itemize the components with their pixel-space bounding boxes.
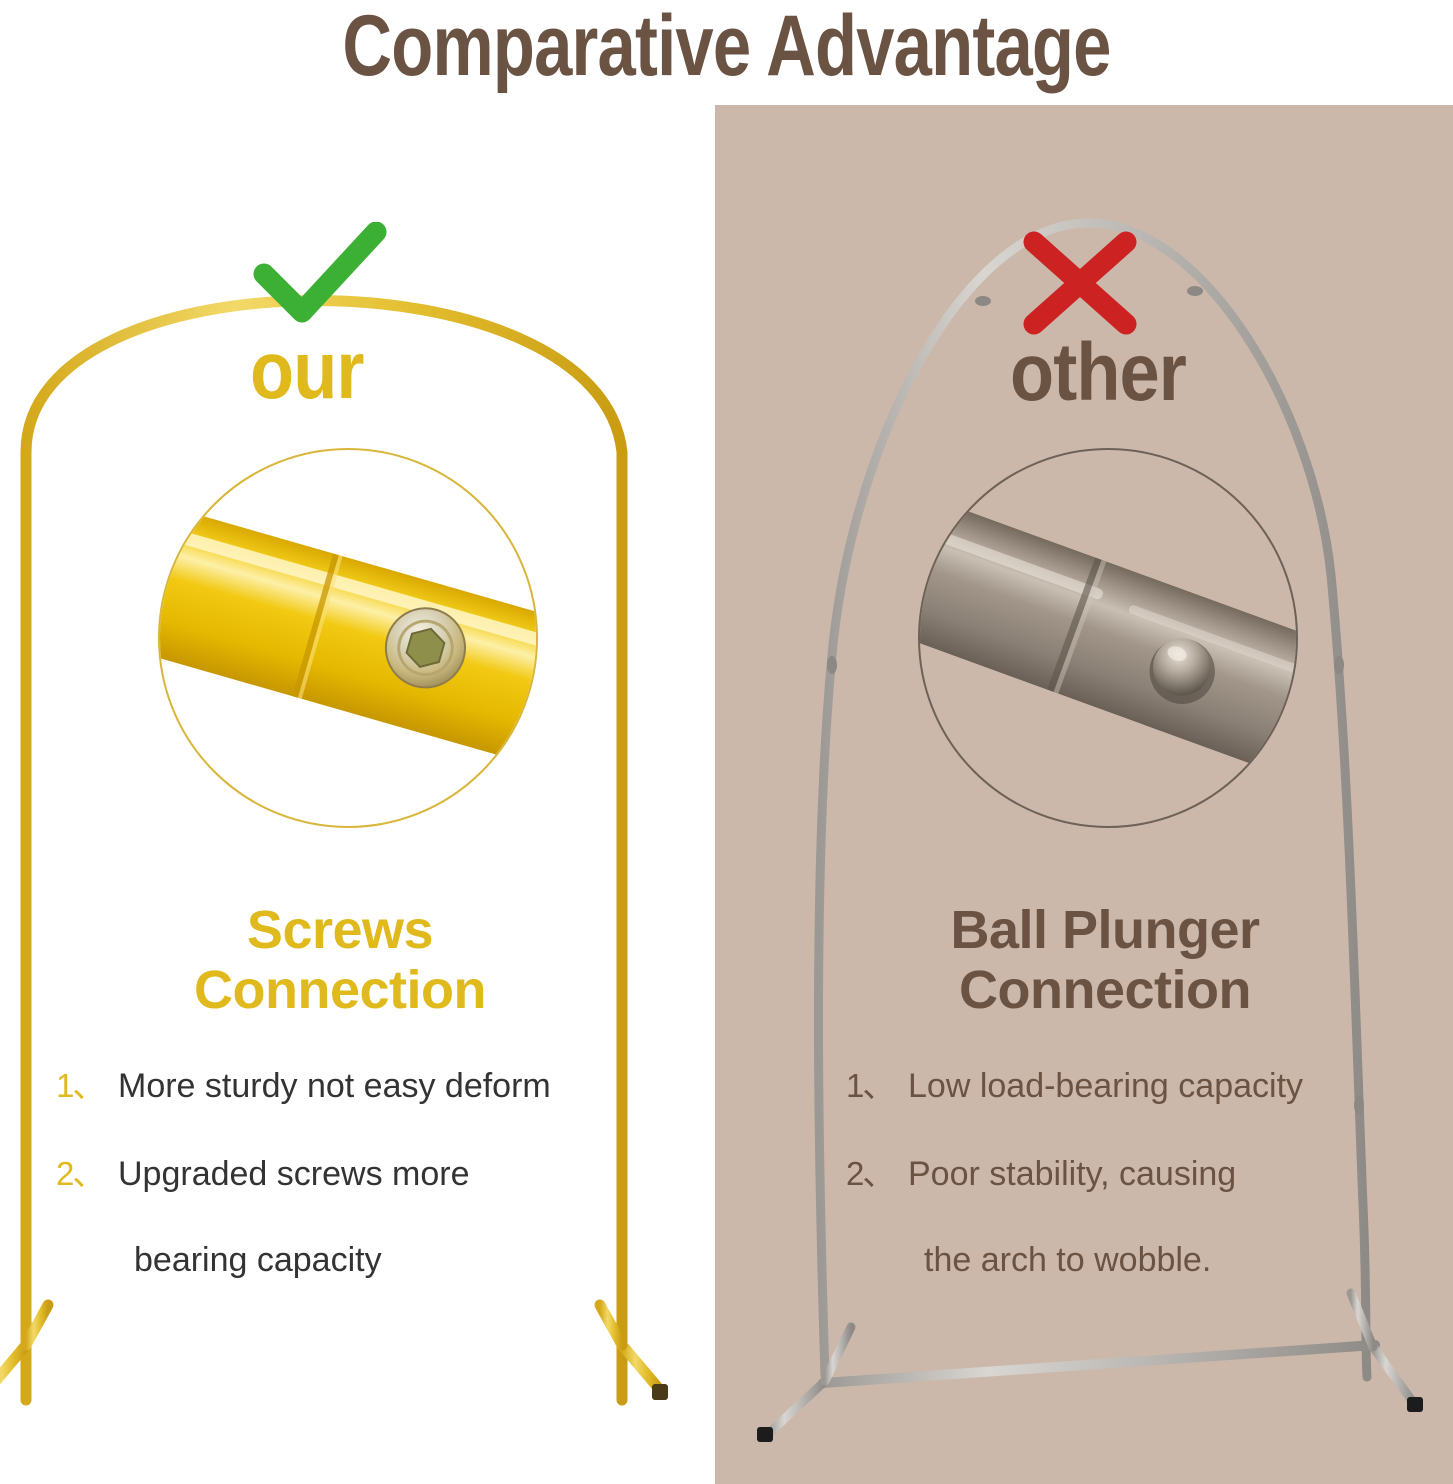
- heading-screws-connection: Screws Connection: [40, 900, 640, 1020]
- list-item-text-line-1: Upgraded screws more: [118, 1155, 469, 1193]
- comparison-infographic: Comparative Advantage: [0, 0, 1453, 1484]
- list-item: 1、 More sturdy not easy deform: [56, 1065, 666, 1107]
- heading-line-2: Connection: [820, 960, 1390, 1020]
- list-item-number: 1、: [56, 1065, 118, 1107]
- check-icon: [250, 222, 390, 332]
- list-item-text-line-2: the arch to wobble.: [908, 1239, 1426, 1281]
- heading-line-1: Screws: [40, 900, 640, 960]
- heading-line-2: Connection: [40, 960, 640, 1020]
- list-item-text-line-1: Poor stability, causing: [908, 1155, 1236, 1193]
- screw-connection-closeup: [158, 448, 538, 828]
- foot-cap: [652, 1384, 668, 1400]
- list-item-text: Upgraded screws more bearing capacity: [118, 1153, 666, 1281]
- list-item: 1、 Low load-bearing capacity: [846, 1065, 1426, 1107]
- segment-joint: [975, 296, 991, 306]
- list-item-text: Low load-bearing capacity: [908, 1065, 1426, 1107]
- heading-line-1: Ball Plunger: [820, 900, 1390, 960]
- list-item-number: 1、: [846, 1065, 908, 1107]
- list-item: 2、 Poor stability, causing the arch to w…: [846, 1153, 1426, 1281]
- list-item-number: 2、: [846, 1153, 908, 1195]
- segment-joint: [827, 656, 837, 674]
- list-item-text: Poor stability, causing the arch to wobb…: [908, 1153, 1426, 1281]
- feature-list-other: 1、 Low load-bearing capacity 2、 Poor sta…: [846, 1065, 1426, 1327]
- verdict-label-our: our: [250, 330, 364, 412]
- feature-list-our: 1、 More sturdy not easy deform 2、 Upgrad…: [56, 1065, 666, 1327]
- list-item: 2、 Upgraded screws more bearing capacity: [56, 1153, 666, 1281]
- cross-icon: [1010, 228, 1150, 338]
- list-item-text: More sturdy not easy deform: [118, 1065, 666, 1107]
- foot-cap: [1407, 1397, 1423, 1412]
- foot-cap: [757, 1427, 773, 1442]
- ball-plunger-closeup: [918, 448, 1298, 828]
- segment-joint: [1334, 656, 1344, 674]
- page-title: Comparative Advantage: [145, 0, 1307, 96]
- verdict-label-other: other: [1010, 332, 1186, 414]
- heading-ball-plunger-connection: Ball Plunger Connection: [820, 900, 1390, 1020]
- list-item-text-line-2: bearing capacity: [118, 1239, 666, 1281]
- list-item-number: 2、: [56, 1153, 118, 1195]
- segment-joint: [1187, 286, 1203, 296]
